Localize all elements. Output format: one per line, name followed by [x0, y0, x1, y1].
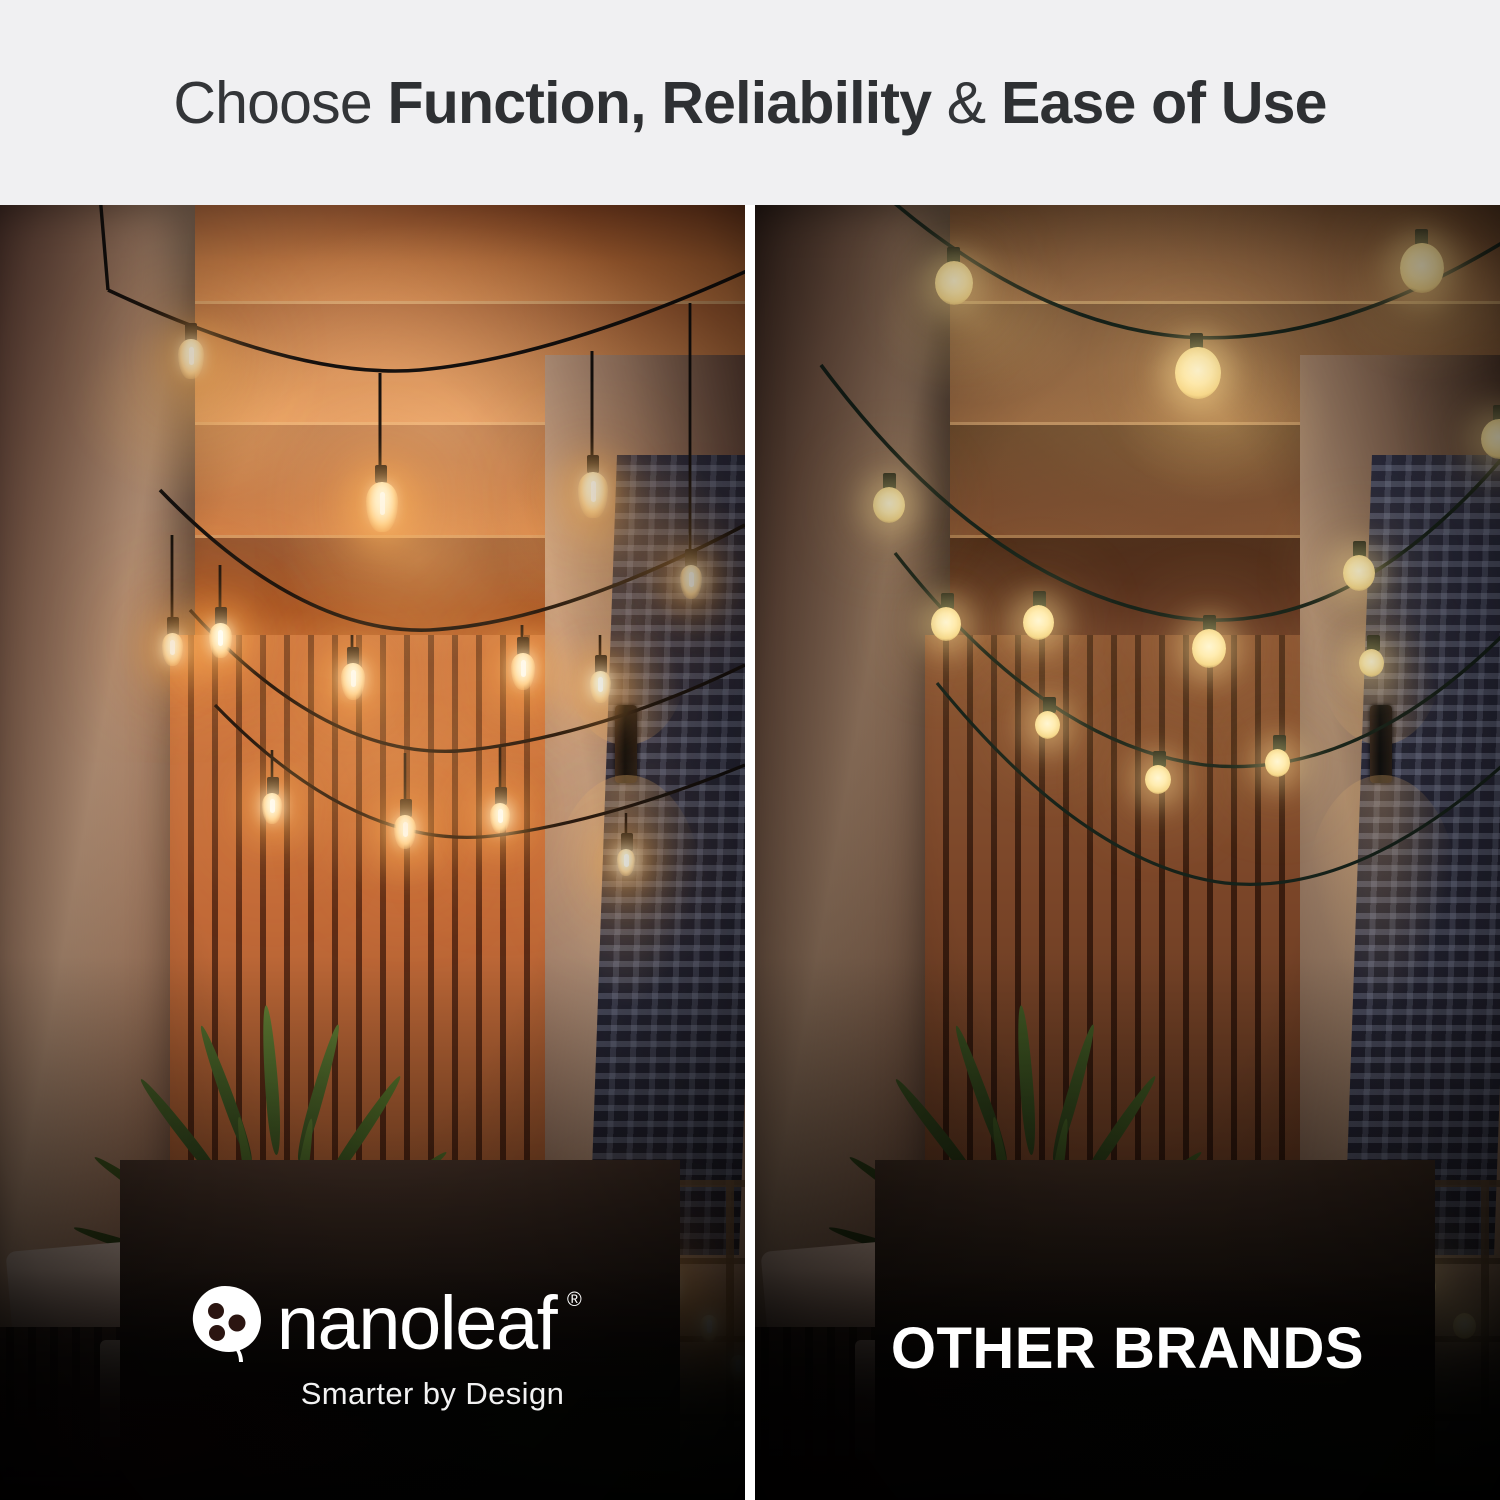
bulb-socket — [587, 455, 599, 473]
foreground-foliage-right — [755, 1270, 1500, 1500]
panel-divider — [745, 205, 755, 1500]
bulb-edison — [590, 671, 611, 703]
bulb-edison — [262, 793, 282, 824]
bulb-socket — [375, 465, 387, 483]
bulb-edison — [394, 815, 416, 849]
scene-other-brands: OTHER BRANDS — [755, 205, 1500, 1500]
scene-nanoleaf: nanoleaf® Smarter by Design — [0, 205, 745, 1500]
bulb-globe — [1145, 765, 1171, 794]
title-part-3: Ease of Use — [1001, 70, 1327, 136]
title-part-0: Choose — [173, 70, 387, 136]
bulb-globe — [1175, 347, 1221, 399]
bulb-edison — [178, 339, 204, 379]
bulb-globe — [1035, 711, 1060, 739]
sconce-glow-down-right — [1307, 775, 1457, 1005]
bulb-globe — [1265, 749, 1290, 777]
bulb-edison — [511, 653, 535, 690]
bulb-edison — [578, 472, 608, 518]
wall-sconce-left — [615, 705, 637, 783]
bulb-globe — [935, 261, 973, 305]
comparison-stage: nanoleaf® Smarter by Design — [0, 205, 1500, 1500]
bulb-globe — [1192, 629, 1226, 668]
panel-nanoleaf: nanoleaf® Smarter by Design — [0, 205, 745, 1500]
page-title: Choose Function, Reliability & Ease of U… — [173, 69, 1326, 137]
bulb-globe — [1343, 555, 1375, 591]
bulb-edison — [680, 565, 702, 599]
bulb-globe — [1400, 243, 1444, 293]
bulb-globe — [1023, 605, 1054, 640]
bulb-edison — [490, 803, 510, 833]
wall-sconce-right — [1370, 705, 1392, 783]
title-part-1: Function, Reliability — [387, 70, 931, 136]
title-part-2: & — [931, 70, 1001, 136]
bulb-globe — [873, 487, 905, 523]
sconce-glow-down-left — [552, 775, 702, 1005]
bulb-edison — [209, 623, 232, 658]
bulb-edison — [617, 849, 635, 876]
bulb-globe — [931, 607, 961, 641]
foreground-foliage-left — [0, 1270, 745, 1500]
comparison-graphic: Choose Function, Reliability & Ease of U… — [0, 0, 1500, 1500]
panel-other-brands: OTHER BRANDS — [755, 205, 1500, 1500]
header-bar: Choose Function, Reliability & Ease of U… — [0, 0, 1500, 205]
bulb-edison — [162, 633, 183, 666]
bulb-edison — [341, 663, 365, 700]
bulb-edison — [366, 482, 398, 532]
bulb-globe — [1359, 649, 1384, 677]
